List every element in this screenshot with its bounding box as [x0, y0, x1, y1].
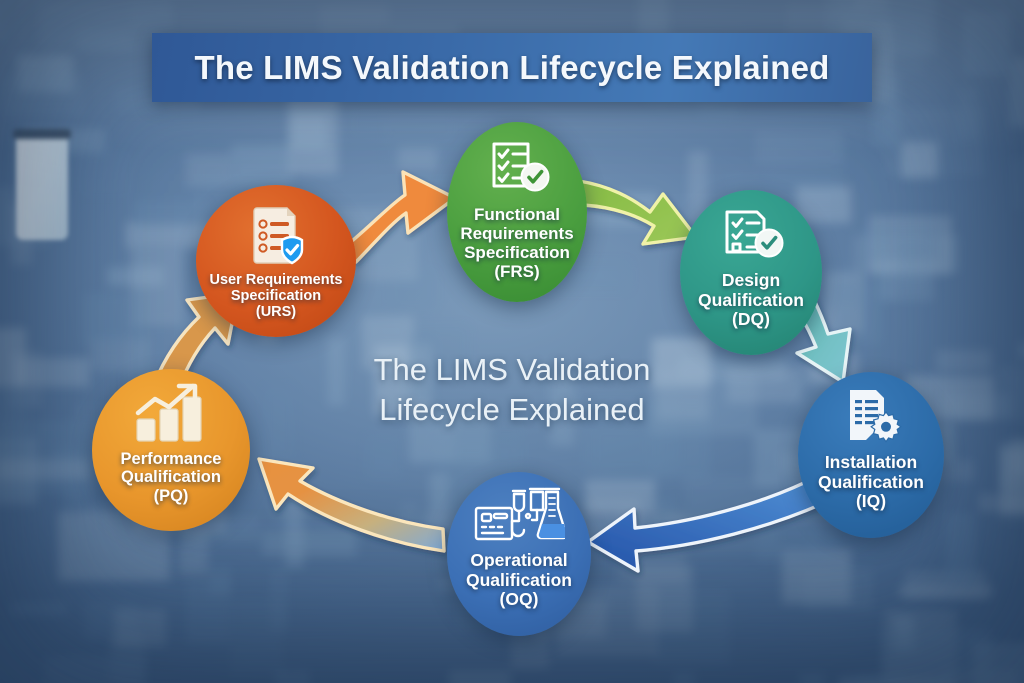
lab-analyzer-flask-icon — [473, 486, 565, 551]
node-frs-line-3: Specification — [437, 243, 598, 262]
node-dq-labels: Design Qualification (DQ) — [669, 271, 832, 330]
bar-chart-growth-icon — [131, 383, 211, 450]
node-oq-line-2: Qualification — [436, 571, 602, 591]
node-frs-line-1: Functional — [437, 205, 598, 224]
node-pq-line-1: Performance — [80, 450, 262, 468]
document-gear-icon — [836, 386, 906, 453]
node-urs-line-2: Specification — [184, 288, 368, 304]
page-title: The LIMS Validation Lifecycle Explained — [195, 49, 830, 87]
node-dq-line-2: Qualification — [669, 291, 832, 311]
node-performance-qualification[interactable]: Performance Qualification (PQ) — [92, 369, 250, 531]
node-user-requirements-specification[interactable]: User Requirements Specification (URS) — [196, 185, 356, 337]
clipboard-check-icon — [482, 138, 552, 205]
node-pq-line-2: Qualification — [80, 468, 262, 486]
node-oq-line-1: Operational — [436, 551, 602, 571]
node-dq-line-3: (DQ) — [669, 310, 832, 330]
infographic-canvas: The LIMS Validation Lifecycle Explained — [0, 0, 1024, 683]
node-urs-line-1: User Requirements — [184, 272, 368, 288]
node-urs-line-3: (URS) — [184, 304, 368, 320]
node-frs-labels: Functional Requirements Specification (F… — [437, 205, 598, 281]
node-iq-line-3: (IQ) — [787, 492, 955, 512]
node-oq-line-3: (OQ) — [436, 590, 602, 610]
node-urs-labels: User Requirements Specification (URS) — [184, 272, 368, 321]
checklist-document-verified-icon — [243, 205, 309, 272]
node-pq-line-3: (PQ) — [80, 487, 262, 505]
node-design-qualification[interactable]: Design Qualification (DQ) — [680, 190, 822, 355]
node-installation-qualification[interactable]: Installation Qualification (IQ) — [798, 372, 944, 538]
node-functional-requirements-specification[interactable]: Functional Requirements Specification (F… — [447, 122, 587, 302]
node-iq-labels: Installation Qualification (IQ) — [787, 453, 955, 512]
node-iq-line-2: Qualification — [787, 473, 955, 493]
node-operational-qualification[interactable]: Operational Qualification (OQ) — [447, 472, 591, 636]
node-frs-line-2: Requirements — [437, 224, 598, 243]
node-pq-labels: Performance Qualification (PQ) — [80, 450, 262, 505]
title-banner: The LIMS Validation Lifecycle Explained — [152, 33, 872, 102]
node-frs-line-4: (FRS) — [437, 262, 598, 281]
node-dq-line-1: Design — [669, 271, 832, 291]
node-oq-labels: Operational Qualification (OQ) — [436, 551, 602, 610]
checklist-approved-icon — [716, 206, 786, 271]
node-iq-line-1: Installation — [787, 453, 955, 473]
